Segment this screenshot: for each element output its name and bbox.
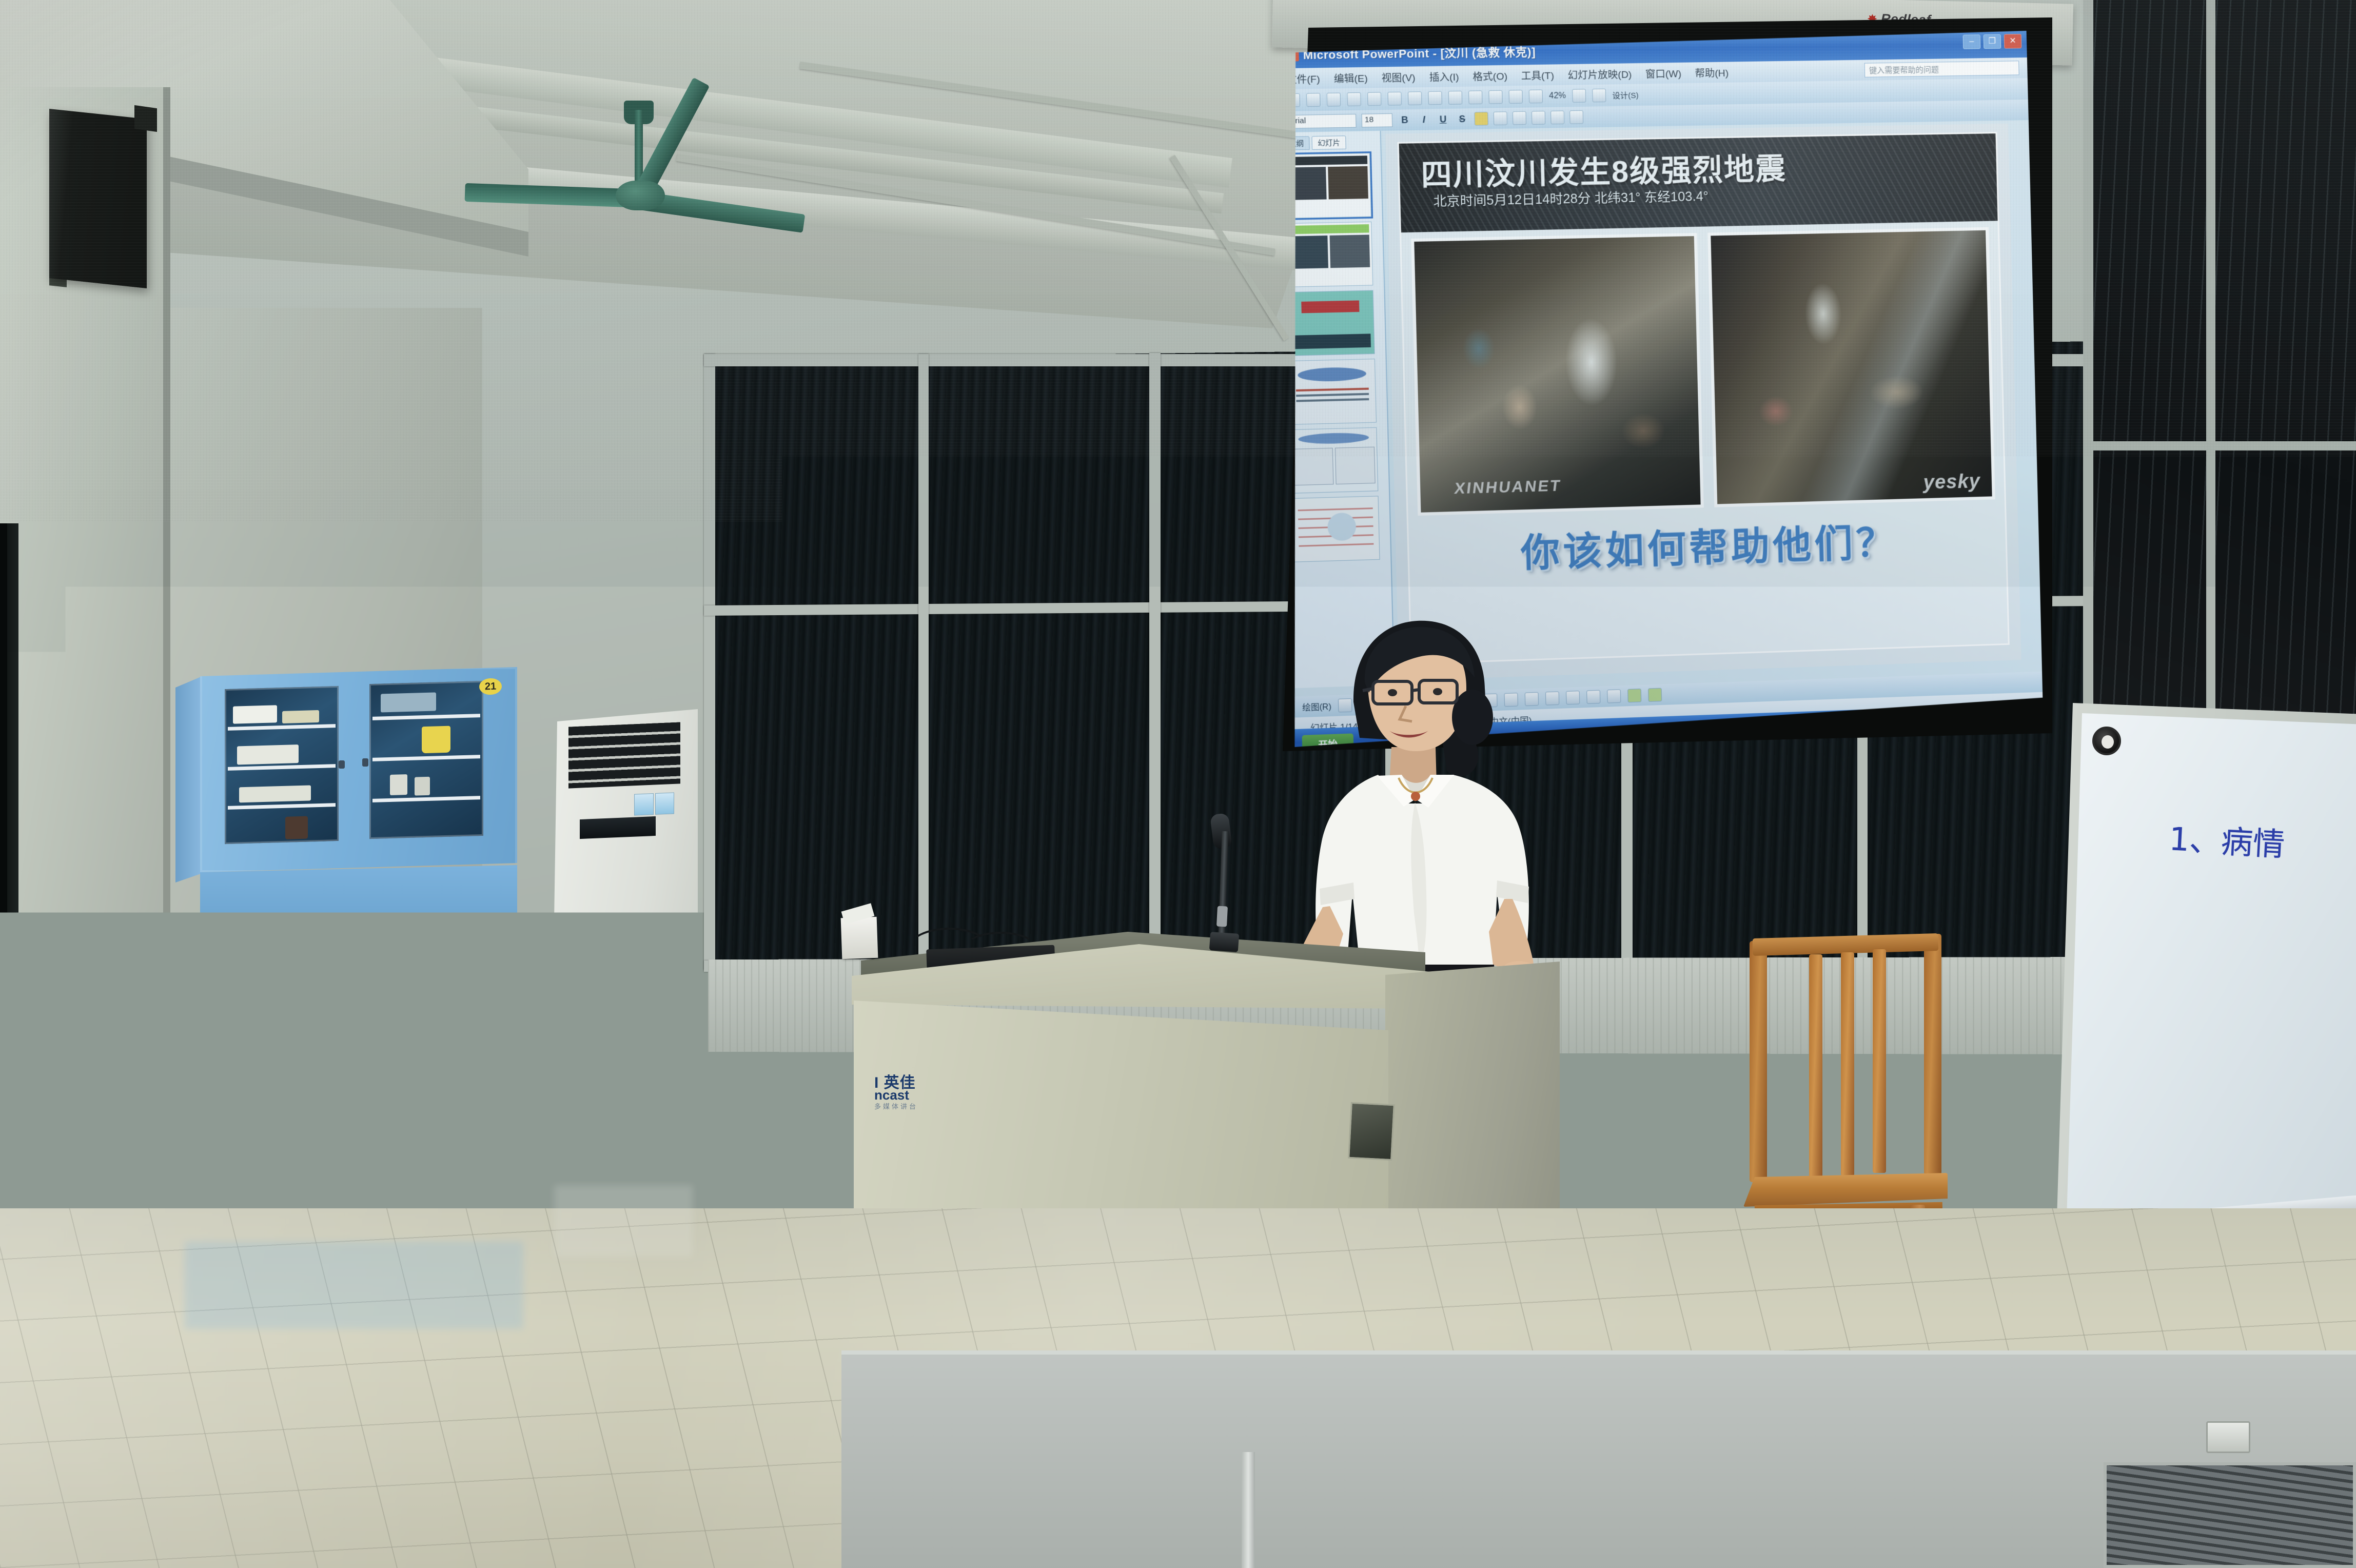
undo-icon[interactable] — [1468, 90, 1483, 104]
eye — [1388, 689, 1397, 696]
font-size-select[interactable]: 18 — [1361, 113, 1392, 128]
menu-item-slideshow[interactable]: 幻灯片放映(D) — [1567, 67, 1632, 82]
close-button[interactable]: ✕ — [2004, 34, 2022, 48]
menu-item-edit[interactable]: 编辑(E) — [1333, 70, 1368, 85]
cabinet-knob[interactable] — [362, 758, 368, 767]
medical-cabinet[interactable]: 21 — [175, 667, 535, 1242]
cabinet-leveling-foot — [507, 1164, 515, 1186]
right-dark-wall — [2083, 0, 2356, 729]
microphone-clip — [1216, 906, 1228, 927]
design-button-label[interactable]: 设计(S) — [1612, 89, 1639, 101]
chair-slat — [1873, 949, 1886, 1173]
chair-back-post — [1750, 941, 1767, 1182]
necklace-pendant — [1411, 792, 1420, 801]
3d-style-icon[interactable] — [1648, 688, 1662, 702]
italic-button[interactable]: I — [1417, 113, 1431, 127]
menu-item-insert[interactable]: 插入(I) — [1429, 69, 1459, 84]
cabinet-door-knob[interactable] — [345, 1071, 351, 1080]
cabinet-lower-side — [175, 924, 199, 1201]
maximize-button[interactable]: ❐ — [1984, 34, 2001, 49]
window-mullion — [918, 354, 929, 970]
slide-subtitle: 北京时间5月12日14时28分 北纬31° 东经103.4° — [1433, 186, 1709, 210]
ac-vent-grille — [568, 722, 680, 788]
cabinet-upper-side — [175, 670, 202, 883]
design-icon[interactable] — [1592, 89, 1606, 103]
increase-font-icon[interactable] — [1550, 111, 1564, 125]
cut-icon[interactable] — [1408, 91, 1422, 105]
redo-icon[interactable] — [1488, 90, 1503, 104]
speaker-bracket — [134, 105, 157, 132]
paste-icon[interactable] — [1448, 91, 1463, 105]
stage-rail — [1242, 1452, 1255, 1568]
door-dark-edge — [0, 523, 7, 1206]
slide-thumbnail[interactable] — [1285, 222, 1373, 287]
window-mullion — [704, 354, 715, 970]
insert-chart-icon[interactable] — [1529, 90, 1543, 104]
menu-item-window[interactable]: 窗口(W) — [1645, 66, 1682, 80]
numbering-icon[interactable] — [1532, 111, 1545, 125]
cabinet-leveling-foot — [258, 1188, 266, 1211]
magnet-icon[interactable] — [2092, 727, 2121, 755]
shadow-button[interactable]: S — [1455, 112, 1469, 126]
insert-table-icon[interactable] — [1508, 90, 1522, 104]
chair-slat — [1841, 952, 1854, 1176]
wall-column-edge — [163, 87, 170, 1267]
podium-brand-line3: 多媒体讲台 — [874, 1103, 972, 1110]
slide-thumbnail-pane[interactable]: 大纲 幻灯片 — [1279, 131, 1395, 688]
dash-style-icon[interactable] — [1586, 690, 1600, 704]
menu-item-format[interactable]: 格式(O) — [1472, 68, 1507, 83]
cabinet-leveling-foot — [391, 1176, 399, 1199]
cabinet-reflection — [185, 1242, 523, 1329]
slide-content: 四川汶川发生8级强烈地震 北京时间5月12日14时28分 北纬31° 东经103… — [1397, 132, 2009, 664]
save-icon[interactable] — [1327, 93, 1341, 107]
ask-a-question-box[interactable]: 键入需要帮助的问题 — [1864, 61, 2019, 77]
ceiling-fan — [616, 181, 665, 210]
photo-watermark: yesky — [1923, 471, 1980, 494]
shadow-style-icon[interactable] — [1627, 689, 1641, 702]
window-controls[interactable]: – ❐ ✕ — [1963, 34, 2022, 49]
podium-control-panel[interactable] — [1348, 1102, 1395, 1161]
cabinet-leveling-foot — [215, 1180, 224, 1203]
slide-photo-row: XINHUANET yesky — [1411, 227, 1995, 516]
cabinet-door-knob[interactable] — [367, 1070, 374, 1079]
floor-grate — [2104, 1462, 2356, 1568]
zoom-level[interactable]: 42% — [1549, 91, 1566, 101]
menu-item-help[interactable]: 帮助(H) — [1695, 65, 1729, 80]
slide-thumbnail[interactable] — [1292, 496, 1380, 562]
whiteboard-handwriting: 1、病情 — [2168, 813, 2286, 865]
spelling-icon[interactable] — [1387, 92, 1402, 106]
copy-icon[interactable] — [1428, 91, 1442, 105]
ac-energy-label — [634, 792, 674, 815]
underline-button[interactable]: U — [1436, 112, 1450, 126]
align-center-icon[interactable] — [1494, 111, 1507, 125]
bullets-icon[interactable] — [1513, 111, 1526, 125]
align-left-icon[interactable] — [1474, 112, 1488, 126]
chair-back-post — [1924, 934, 1941, 1175]
cabinet-glass-door-right[interactable] — [369, 681, 483, 839]
pane-tab-bar[interactable]: 大纲 幻灯片 — [1283, 135, 1377, 150]
cabinet-door-seam — [356, 939, 358, 1195]
ac-reflection — [554, 1185, 693, 1257]
chair-seat — [1743, 1173, 1948, 1207]
help-icon[interactable] — [1572, 89, 1586, 103]
slide-title: 四川汶川发生8级强烈地震 — [1421, 144, 1787, 194]
open-icon[interactable] — [1306, 93, 1321, 107]
window-mullion — [2206, 0, 2215, 729]
right-wall-slats — [2083, 0, 2356, 729]
menu-item-tools[interactable]: 工具(T) — [1521, 68, 1555, 82]
slide-thumbnail[interactable] — [1287, 290, 1375, 356]
slide-banner: 四川汶川发生8级强烈地震 北京时间5月12日14时28分 北纬31° 东经103… — [1399, 133, 1998, 232]
tab-slides[interactable]: 幻灯片 — [1311, 135, 1346, 150]
podium-brand-logo: I 英佳 ncast 多媒体讲台 — [874, 1075, 972, 1125]
font-name-select[interactable]: Arial — [1286, 114, 1356, 129]
photo-figures — [1711, 230, 1992, 504]
bold-button[interactable]: B — [1398, 113, 1412, 127]
slide-canvas[interactable]: 四川汶川发生8级强烈地震 北京时间5月12日14时28分 北纬31° 东经103… — [1385, 124, 2021, 681]
cabinet-glass-door-left[interactable] — [225, 686, 339, 844]
menu-item-view[interactable]: 视图(V) — [1381, 70, 1415, 85]
chair-slat — [1809, 954, 1822, 1178]
minimize-button[interactable]: – — [1963, 34, 1981, 49]
slide-photo-rubble: yesky — [1707, 227, 1995, 507]
window-mullion — [2083, 0, 2093, 729]
wall-outlet[interactable] — [2206, 1421, 2250, 1453]
font-color-icon[interactable] — [1569, 110, 1583, 124]
arrow-style-icon[interactable] — [1607, 689, 1621, 703]
slide-thumbnail[interactable] — [1288, 359, 1377, 425]
classroom-scene: Redleaf Microsoft PowerPoint - [汶川 (急救 休… — [0, 0, 2356, 1568]
slide-question-text: 你该如何帮助他们？ — [1408, 508, 2006, 581]
cabinet-knob[interactable] — [339, 760, 345, 769]
wall-speaker — [49, 109, 147, 288]
photo-figures — [1414, 236, 1700, 513]
podium-brand-line2: ncast — [874, 1088, 972, 1102]
cabinet-lower-body — [197, 932, 525, 1199]
slide-thumbnail[interactable] — [1283, 153, 1371, 219]
photo-watermark: XINHUANET — [1453, 477, 1562, 498]
eye — [1433, 688, 1442, 695]
print-icon[interactable] — [1347, 92, 1361, 106]
slide-photo-rescue: XINHUANET — [1411, 233, 1704, 516]
window-mullion — [1149, 353, 1161, 969]
slide-thumbnail[interactable] — [1290, 427, 1378, 494]
preview-icon[interactable] — [1367, 92, 1382, 106]
ac-display-panel[interactable] — [580, 816, 656, 839]
window-transom — [2083, 441, 2356, 450]
cabinet-open-shelf — [200, 865, 517, 931]
